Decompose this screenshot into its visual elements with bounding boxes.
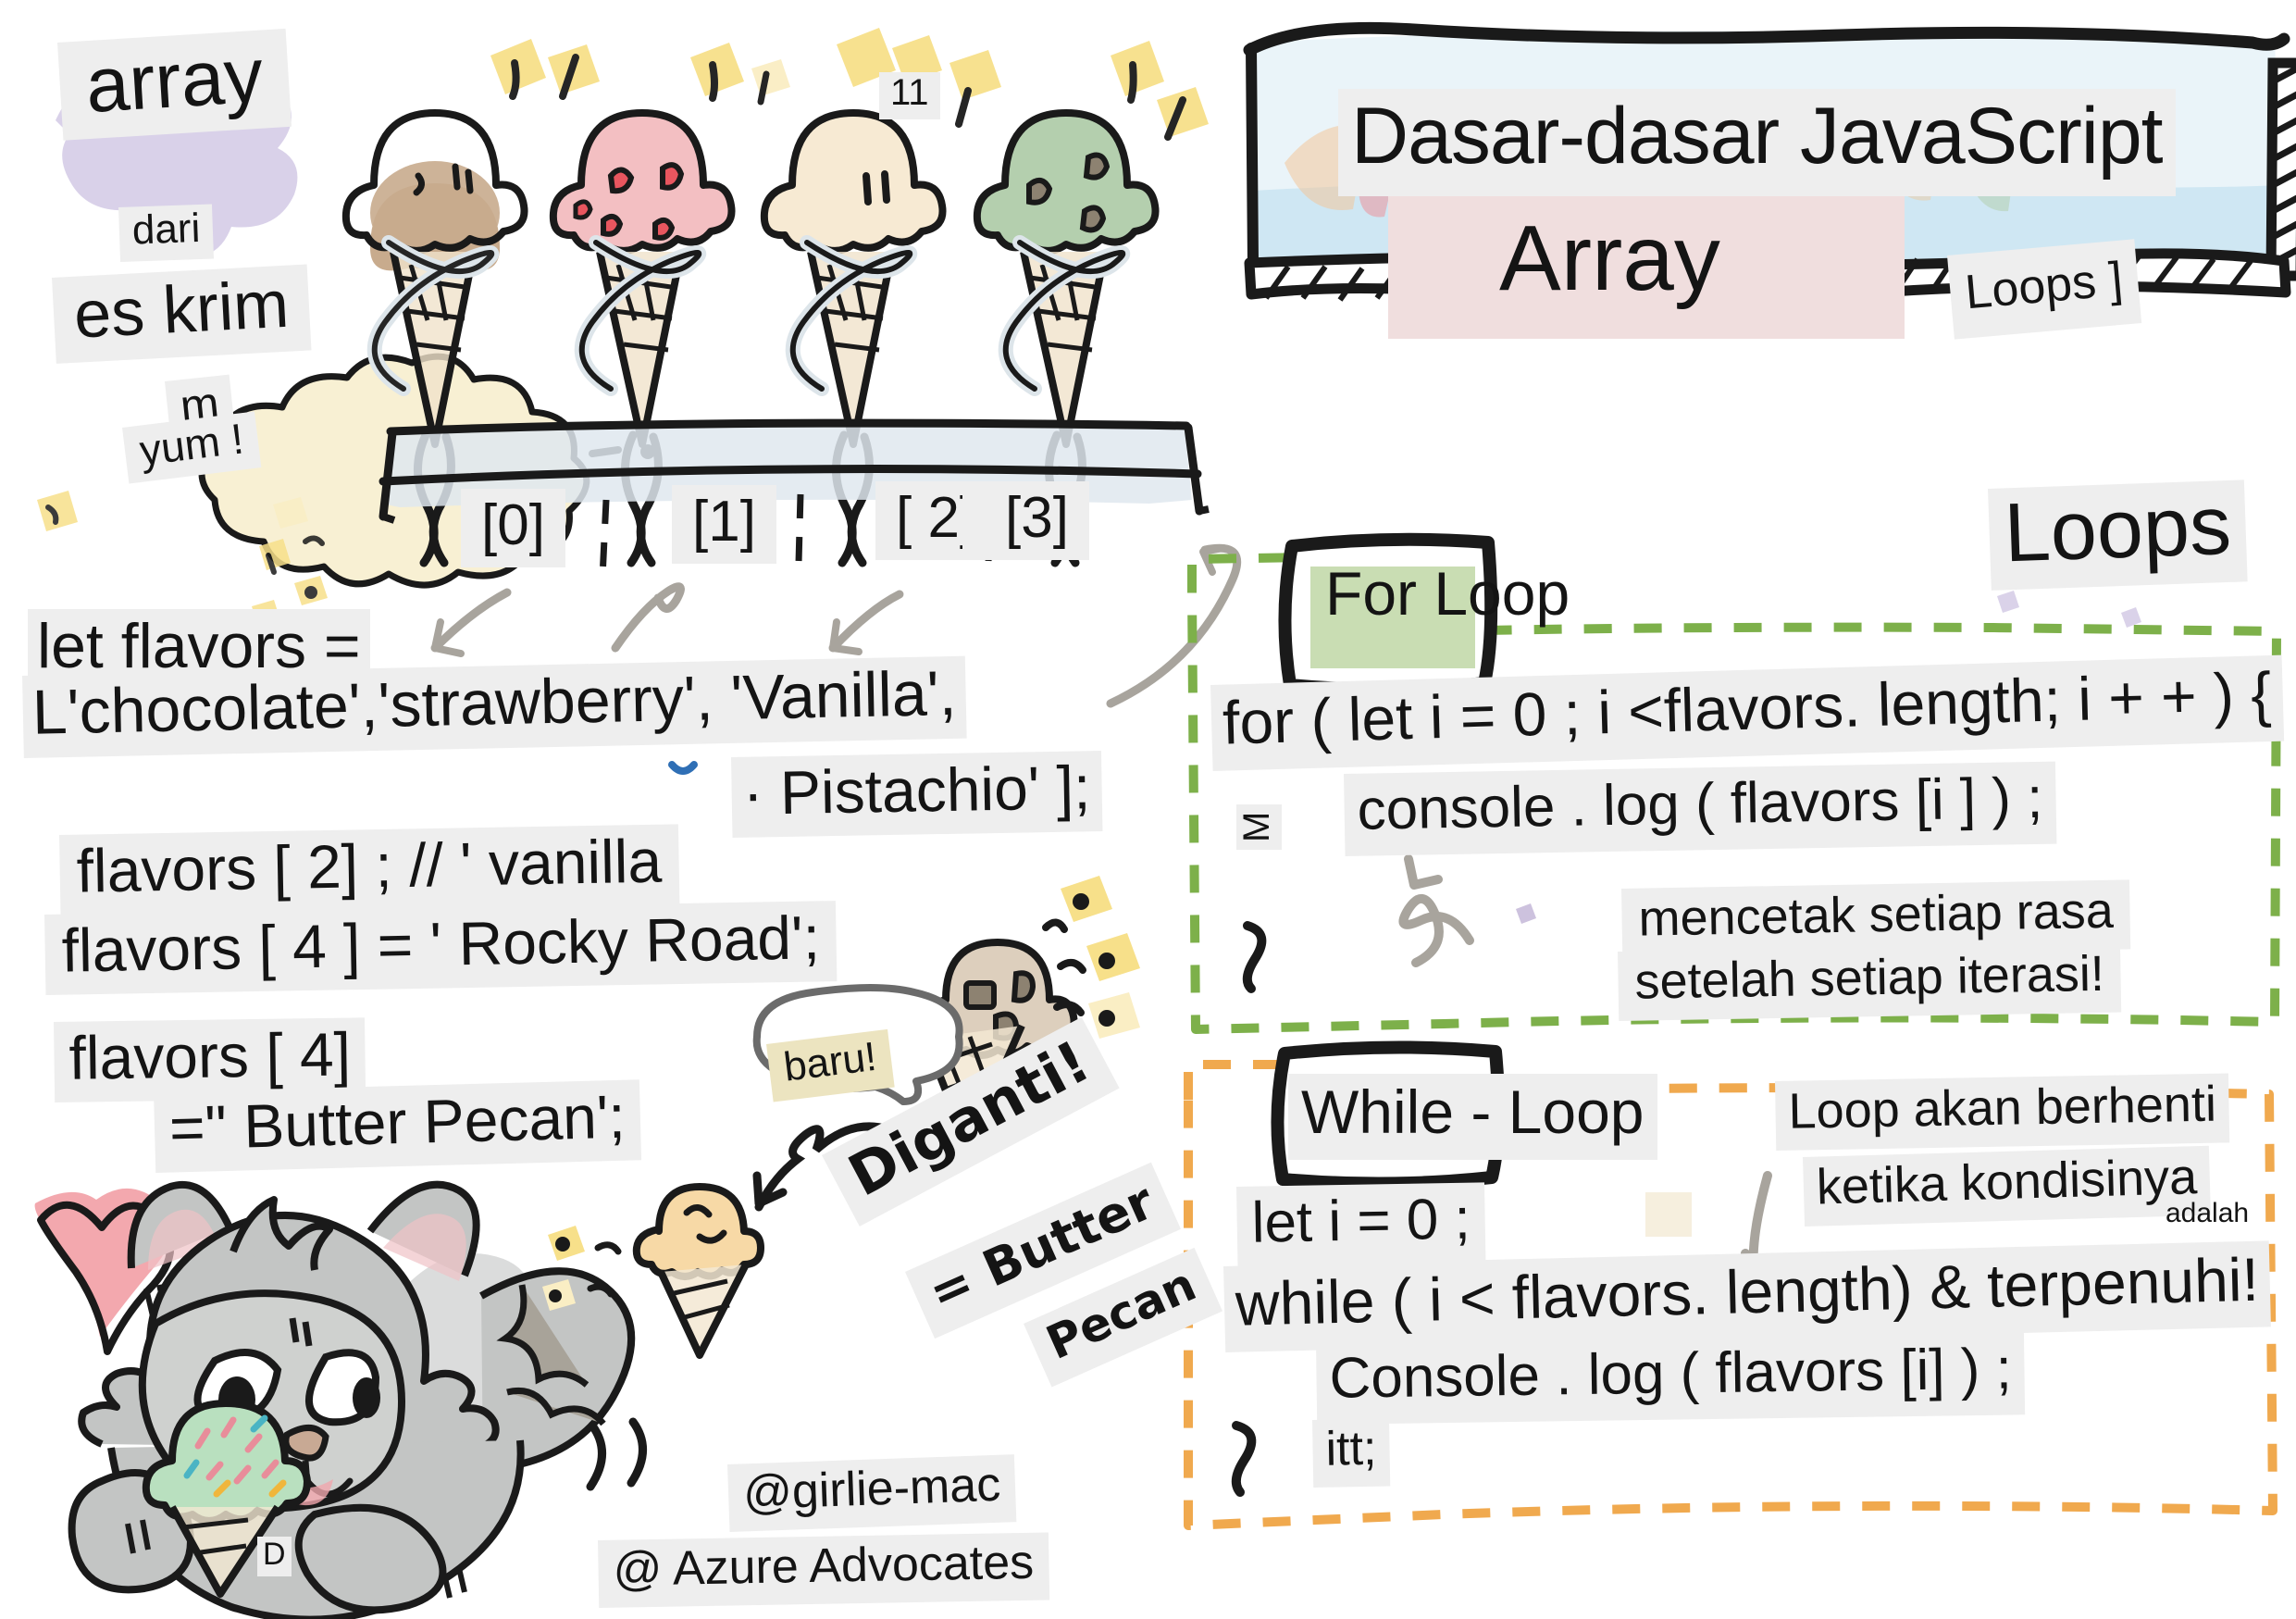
heading-es-krim: es krim: [52, 265, 312, 365]
while-loop-code-init: let i = 0 ;: [1236, 1182, 1486, 1267]
while-loop-code-incr: itt;: [1312, 1419, 1390, 1488]
for-loop-title: For Loop: [1325, 563, 1570, 625]
while-loop-note-1: Loop akan berhenti: [1775, 1073, 2230, 1151]
while-loop-note-3: adalah: [2166, 1200, 2249, 1228]
baru-label: baru!: [766, 1029, 895, 1102]
cloud-yum-text: yum !: [122, 411, 262, 483]
for-loop-note-2: setelah setiap iterasi!: [1618, 943, 2122, 1022]
code-line-rocky-road: flavors [ 4 ] = ' Rocky Road';: [44, 901, 838, 995]
code-line-pistachio: · Pistachio' ];: [731, 751, 1102, 838]
d-mark-label: D: [257, 1537, 292, 1576]
credit-org: @ Azure Advocates: [598, 1533, 1049, 1609]
array-index-3: [3]: [962, 481, 1089, 560]
while-loop-note-2: ketika kondisinya: [1803, 1146, 2211, 1227]
array-index-1: [1]: [672, 485, 776, 564]
array-index-0: [0]: [461, 489, 565, 567]
credit-author: @girlie-mac: [727, 1454, 1017, 1532]
for-loop-brace-mark: M: [1236, 804, 1282, 850]
for-loop-code-body: console . log ( flavors [i ] ) ;: [1344, 762, 2056, 857]
confetti-top: [490, 28, 1209, 137]
while-loop-title: While - Loop: [1288, 1074, 1657, 1160]
board-topic-array: Array: [1499, 211, 1720, 305]
sketchnote-canvas: array dari es krim m yum ! 11 [0] [1] [ …: [0, 0, 2296, 1619]
loops-heading: Loops: [1988, 479, 2248, 590]
board-heading: Dasar-dasar JavaScript: [1338, 89, 2176, 196]
raccoon-character: [72, 1185, 632, 1619]
small-vanilla-cone: [542, 1187, 761, 1355]
while-loop-code-body: Console . log ( flavors [i] ) ;: [1316, 1332, 2026, 1425]
heart-shape: [35, 1189, 173, 1351]
heading-array: array: [57, 29, 292, 141]
code-line-access: flavors [ 2] ; // ' vanilla: [59, 824, 679, 915]
heading-dari: dari: [118, 204, 214, 261]
for-loop-code-header: for ( let i = 0 ; i <flavors. length; i …: [1210, 655, 2284, 772]
confetti-count-label: 11: [879, 72, 940, 119]
code-line-butter-pecan: =" Butter Pecan';: [154, 1079, 641, 1173]
board-loops-tag: Loops ]: [1947, 239, 2141, 339]
